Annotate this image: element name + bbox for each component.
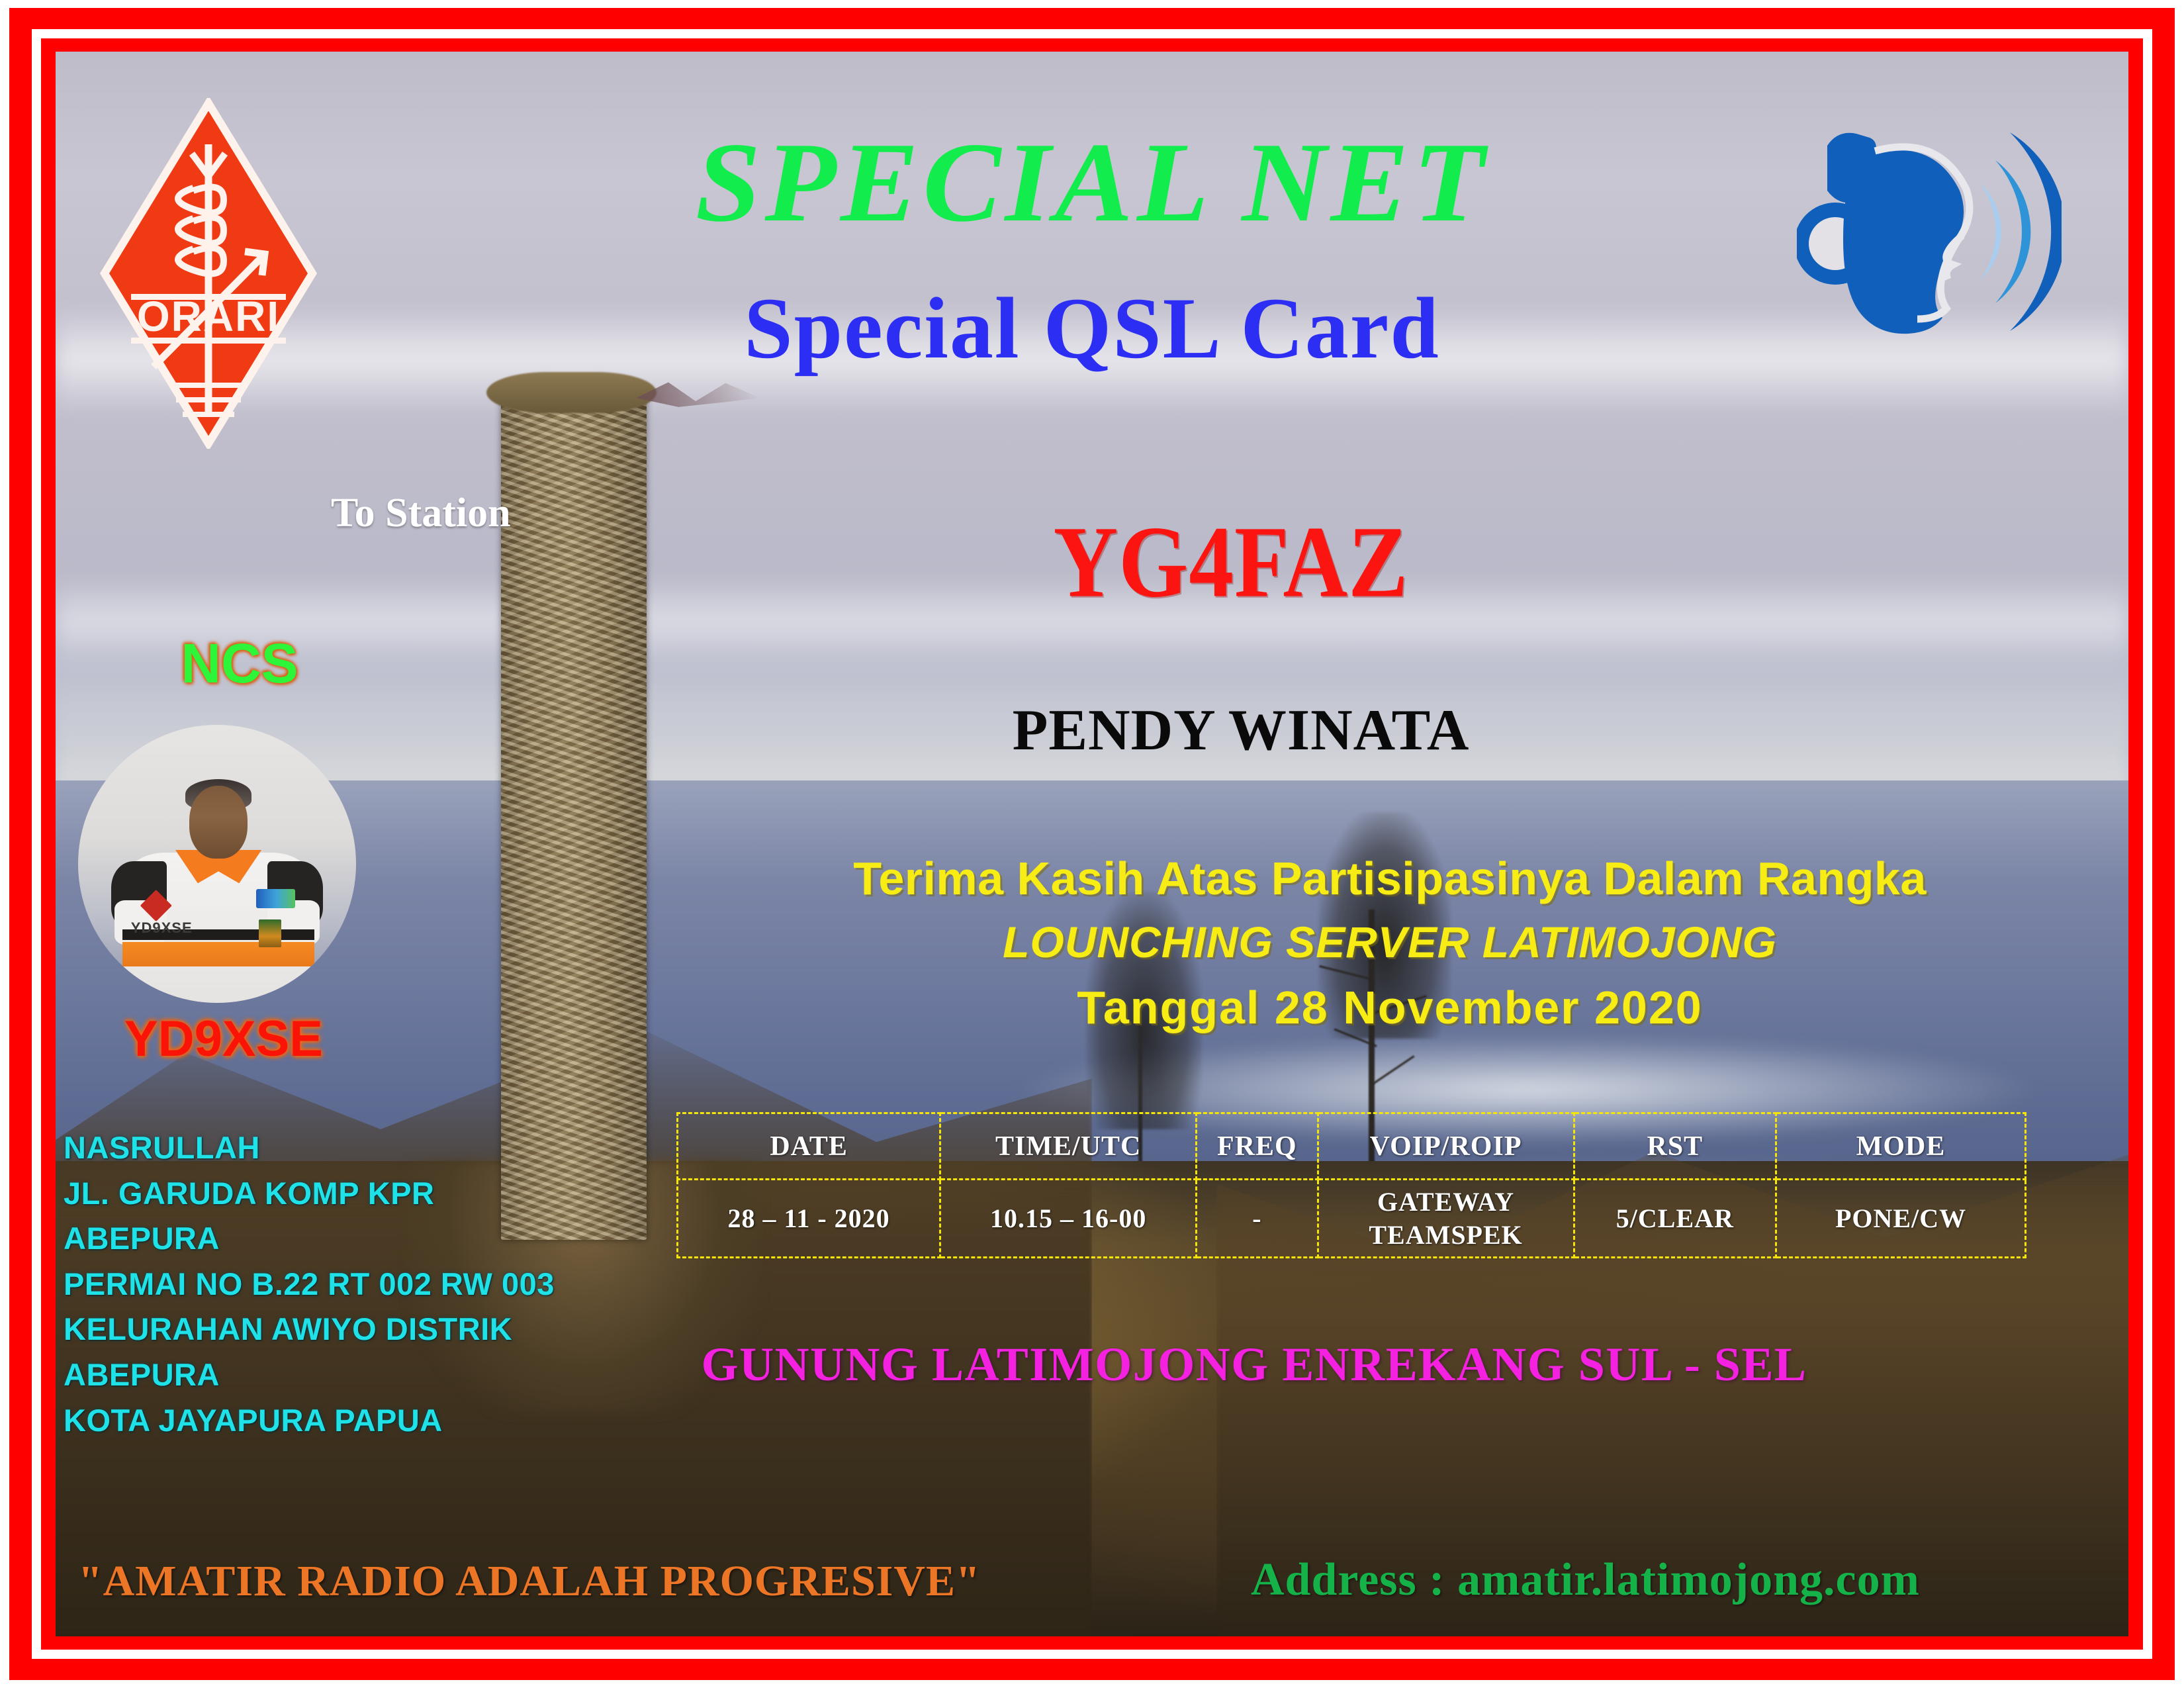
ncs-label: NCS	[140, 635, 339, 691]
address-line: ABEPURA	[64, 1216, 606, 1262]
cell-date: 28 – 11 - 2020	[678, 1180, 940, 1258]
thanks-line-1: Terima Kasih Atas Partisipasinya Dalam R…	[741, 854, 2038, 904]
column-header-rst: RST	[1574, 1113, 1776, 1180]
table-row: 28 – 11 - 2020 10.15 – 16-00 - GATEWAY T…	[678, 1180, 2026, 1258]
column-header-date: DATE	[678, 1113, 940, 1180]
thanks-line-2: LOUNCHING SERVER LATIMOJONG	[741, 919, 2038, 966]
address-line: JL. GARUDA KOMP KPR	[64, 1171, 606, 1217]
page-subtitle-qsl-card: Special QSL Card	[0, 285, 2184, 372]
address-line: KOTA JAYAPURA PAPUA	[64, 1398, 606, 1444]
ncs-callsign: YD9XSE	[91, 1014, 356, 1064]
address-line: NASRULLAH	[64, 1125, 606, 1171]
cell-voip: GATEWAY TEAMSPEK	[1318, 1180, 1574, 1258]
cell-voip-line1: GATEWAY	[1319, 1186, 1573, 1219]
footer-website-address: Address : amatir.latimojong.com	[1251, 1557, 1920, 1603]
column-header-mode: MODE	[1776, 1113, 2026, 1180]
cell-rst: 5/CLEAR	[1574, 1180, 1776, 1258]
table-header-row: DATE TIME/UTC FREQ VOIP/ROIP RST MODE	[678, 1113, 2026, 1180]
to-station-label: To Station	[331, 490, 511, 537]
address-line: PERMAI NO B.22 RT 002 RW 003	[64, 1262, 606, 1307]
operator-name: PENDY WINATA	[860, 702, 1621, 760]
stone-cairn	[501, 385, 646, 1241]
ncs-operator-avatar: YD9XSE	[78, 725, 356, 1003]
cell-time: 10.15 – 16-00	[940, 1180, 1197, 1258]
thanks-line-3: Tanggal 28 November 2020	[741, 983, 2038, 1033]
location-caption: GUNUNG LATIMOJONG ENREKANG SUL - SEL	[596, 1340, 1913, 1388]
address-line: KELURAHAN AWIYO DISTRIK	[64, 1307, 606, 1352]
cell-mode: PONE/CW	[1776, 1180, 2026, 1258]
qso-log-table: DATE TIME/UTC FREQ VOIP/ROIP RST MODE 28…	[676, 1112, 2026, 1258]
recipient-callsign: YG4FAZ	[985, 511, 1478, 614]
column-header-time: TIME/UTC	[940, 1113, 1197, 1180]
sender-address-block: NASRULLAH JL. GARUDA KOMP KPR ABEPURA PE…	[64, 1125, 606, 1443]
thanks-message: Terima Kasih Atas Partisipasinya Dalam R…	[741, 854, 2038, 1033]
cell-voip-line2: TEAMSPEK	[1319, 1219, 1573, 1252]
cell-freq: -	[1197, 1180, 1318, 1258]
cairn-top	[486, 372, 657, 413]
page-title-special-net: SPECIAL NET	[0, 126, 2184, 240]
address-line: ABEPURA	[64, 1352, 606, 1398]
avatar-uniform-callsign: YD9XSE	[131, 919, 193, 937]
column-header-freq: FREQ	[1197, 1113, 1318, 1180]
column-header-voip: VOIP/ROIP	[1318, 1113, 1574, 1180]
qsl-card: ORARI SPECIAL NET Special QSL Card To St…	[0, 0, 2184, 1688]
footer-motto: "AMATIR RADIO ADALAH PROGRESIVE"	[78, 1560, 981, 1603]
